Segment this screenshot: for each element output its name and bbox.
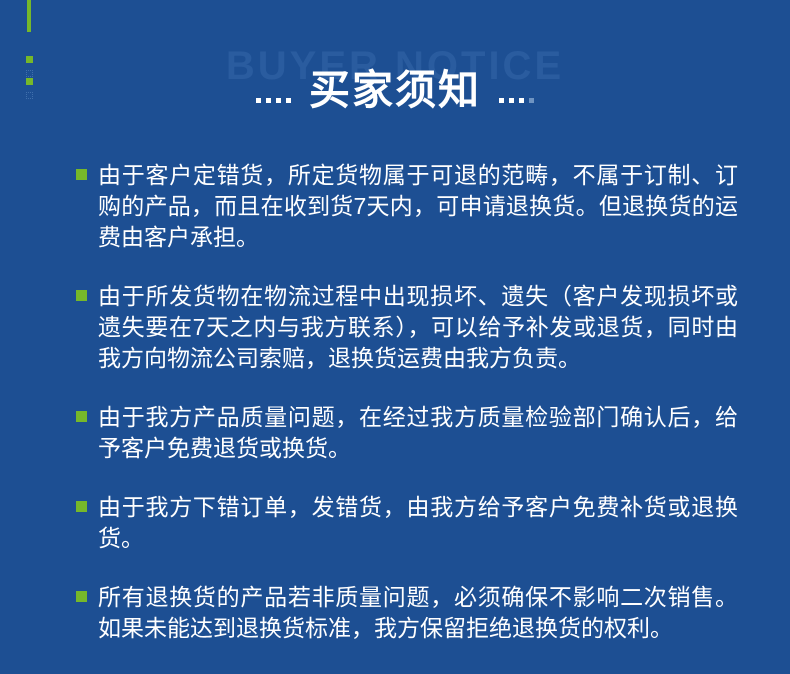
dot-icon bbox=[286, 98, 291, 103]
right-dot-decoration bbox=[499, 78, 534, 103]
bullet-square-icon bbox=[76, 501, 87, 512]
notice-text: 由于所发货物在物流过程中出现损坏、遗失（客户发现损坏或遗失要在7天之内与我方联系… bbox=[98, 281, 738, 374]
page-title: 买家须知 bbox=[309, 70, 481, 111]
notice-text: 由于我方下错订单，发错货，由我方给予客户免费补货或退换货。 bbox=[98, 492, 738, 554]
buyer-notice-banner: BUYER NOTICE 买家须知 由于客户定错货，所定货物属于可退的范畴，不属… bbox=[0, 0, 790, 674]
bullet-square-icon bbox=[76, 290, 87, 301]
dot-icon bbox=[276, 98, 281, 103]
list-item: 由于所发货物在物流过程中出现损坏、遗失（客户发现损坏或遗失要在7天之内与我方联系… bbox=[76, 281, 738, 374]
bullet-square-icon bbox=[76, 169, 87, 180]
list-item: 由于客户定错货，所定货物属于可退的范畴，不属于订制、订购的产品，而且在收到货7天… bbox=[76, 160, 738, 253]
dot-icon bbox=[509, 98, 514, 103]
bullet-square-icon bbox=[76, 591, 87, 602]
notice-list: 由于客户定错货，所定货物属于可退的范畴，不属于订制、订购的产品，而且在收到货7天… bbox=[76, 160, 738, 674]
banner-header: BUYER NOTICE 买家须知 bbox=[0, 44, 790, 124]
dot-icon bbox=[256, 98, 261, 103]
dot-icon bbox=[519, 98, 524, 103]
bullet-square-icon bbox=[76, 411, 87, 422]
list-item: 所有退换货的产品若非质量问题，必须确保不影响二次销售。如果未能达到退换货标准，我… bbox=[76, 582, 738, 644]
green-accent-bar bbox=[27, 0, 31, 32]
title-row: 买家须知 bbox=[0, 70, 790, 111]
notice-text: 所有退换货的产品若非质量问题，必须确保不影响二次销售。如果未能达到退换货标准，我… bbox=[98, 582, 738, 644]
list-item: 由于我方产品质量问题，在经过我方质量检验部门确认后，给予客户免费退货或换货。 bbox=[76, 402, 738, 464]
dot-icon bbox=[499, 98, 504, 103]
dot-icon bbox=[529, 98, 534, 103]
notice-text: 由于我方产品质量问题，在经过我方质量检验部门确认后，给予客户免费退货或换货。 bbox=[98, 402, 738, 464]
dot-icon bbox=[266, 98, 271, 103]
notice-text: 由于客户定错货，所定货物属于可退的范畴，不属于订制、订购的产品，而且在收到货7天… bbox=[98, 160, 738, 253]
list-item: 由于我方下错订单，发错货，由我方给予客户免费补货或退换货。 bbox=[76, 492, 738, 554]
left-dot-decoration bbox=[256, 78, 291, 103]
